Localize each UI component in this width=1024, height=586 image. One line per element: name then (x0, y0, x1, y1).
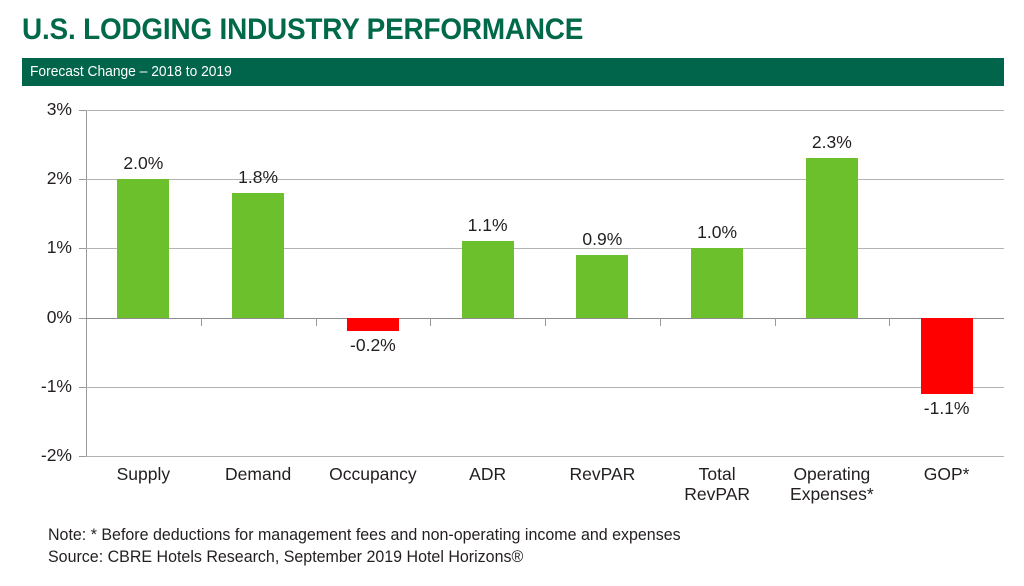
bar-chart: 3%2%1%0%-1%-2% 2.0%1.8%-0.2%1.1%0.9%1.0%… (0, 0, 1024, 586)
bar-gop[interactable] (921, 318, 973, 394)
x-axis-label-line: ADR (430, 464, 545, 484)
x-axis-label-revpar: RevPAR (545, 464, 660, 484)
bar-value-label: 1.0% (697, 224, 737, 242)
bar-slot: 2.0% (86, 110, 201, 456)
x-axis-label-line: Operating (775, 464, 890, 484)
x-axis-label-line: RevPAR (660, 484, 775, 504)
y-tick-mark (79, 318, 86, 319)
bar-occupancy[interactable] (347, 318, 399, 332)
x-axis-label-occupancy: Occupancy (316, 464, 431, 484)
bar-value-label: -0.2% (350, 337, 396, 355)
bar-value-label: 0.9% (582, 231, 622, 249)
x-axis-label-demand: Demand (201, 464, 316, 484)
x-axis-label-line: GOP* (889, 464, 1004, 484)
bar-value-label: 2.3% (812, 134, 852, 152)
gridline-neg2 (86, 456, 1004, 457)
x-axis-label-operating-expenses: OperatingExpenses* (775, 464, 890, 504)
y-tick-mark (79, 179, 86, 180)
bar-slot: -1.1% (889, 110, 1004, 456)
bar-total-revpar[interactable] (691, 248, 743, 317)
bar-slot: 0.9% (545, 110, 660, 456)
x-axis-label-total-revpar: TotalRevPAR (660, 464, 775, 504)
bar-supply[interactable] (117, 179, 169, 317)
x-axis-label-line: RevPAR (545, 464, 660, 484)
plot-area: 2.0%1.8%-0.2%1.1%0.9%1.0%2.3%-1.1% (86, 110, 1004, 456)
y-axis-tick-label: 3% (14, 101, 72, 119)
y-tick-mark (79, 456, 86, 457)
x-axis-label-supply: Supply (86, 464, 201, 484)
bar-adr[interactable] (462, 241, 514, 317)
bar-value-label: 1.1% (468, 217, 508, 235)
bar-slot: 2.3% (775, 110, 890, 456)
y-tick-mark (79, 387, 86, 388)
bar-demand[interactable] (232, 193, 284, 318)
y-axis-tick-label: 0% (14, 309, 72, 327)
bar-value-label: 1.8% (238, 169, 278, 187)
y-axis-tick-label: 1% (14, 239, 72, 257)
x-axis-label-line: Total (660, 464, 775, 484)
y-axis-tick-label: -2% (14, 447, 72, 465)
bar-slot: 1.0% (660, 110, 775, 456)
y-axis-tick-label: -1% (14, 378, 72, 396)
bar-slot: 1.8% (201, 110, 316, 456)
bar-slot: -0.2% (316, 110, 431, 456)
bar-operating-expenses[interactable] (806, 158, 858, 317)
bar-slot: 1.1% (430, 110, 545, 456)
footnotes: Note: * Before deductions for management… (48, 524, 681, 568)
footnote-source: Source: CBRE Hotels Research, September … (48, 546, 681, 568)
x-axis-label-gop: GOP* (889, 464, 1004, 484)
bar-revpar[interactable] (576, 255, 628, 317)
x-axis-label-line: Occupancy (316, 464, 431, 484)
x-axis-label-line: Expenses* (775, 484, 890, 504)
x-axis-label-adr: ADR (430, 464, 545, 484)
bar-value-label: -1.1% (924, 400, 970, 418)
y-tick-mark (79, 248, 86, 249)
footnote-note: Note: * Before deductions for management… (48, 524, 681, 546)
x-axis-label-line: Supply (86, 464, 201, 484)
y-tick-mark (79, 110, 86, 111)
x-axis-label-line: Demand (201, 464, 316, 484)
bar-value-label: 2.0% (123, 155, 163, 173)
y-axis-tick-label: 2% (14, 170, 72, 188)
